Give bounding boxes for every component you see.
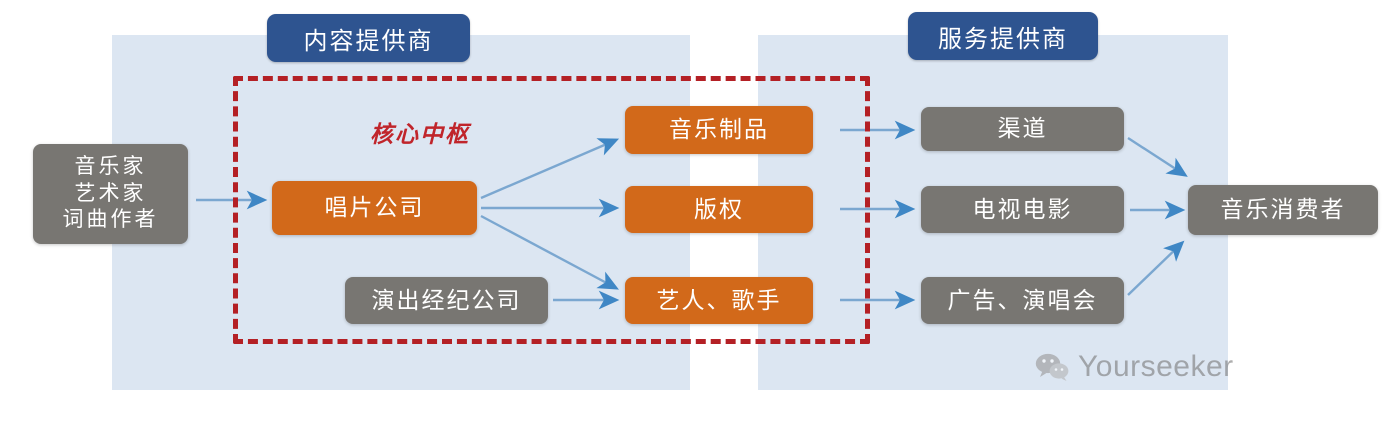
- header-service-provider: 服务提供商: [908, 12, 1098, 60]
- diagram-canvas: 内容提供商 服务提供商 核心中枢 音乐家 艺术家 词曲作者 唱片公司 演出经纪公…: [0, 0, 1397, 427]
- node-music-product-label: 音乐制品: [669, 115, 769, 144]
- node-record-company-label: 唱片公司: [325, 193, 425, 222]
- node-ad-concert[interactable]: 广告、演唱会: [921, 277, 1124, 324]
- node-creators[interactable]: 音乐家 艺术家 词曲作者: [33, 144, 188, 244]
- header-content-provider-label: 内容提供商: [304, 21, 434, 56]
- node-creators-line-2: 艺术家: [75, 181, 147, 208]
- node-performance-agency[interactable]: 演出经纪公司: [345, 277, 548, 324]
- node-performance-agency-label: 演出经纪公司: [372, 286, 522, 315]
- node-music-consumer-label: 音乐消费者: [1221, 195, 1346, 224]
- node-creators-line-3: 词曲作者: [63, 207, 159, 234]
- node-record-company[interactable]: 唱片公司: [272, 181, 477, 235]
- node-tv-film-label: 电视电影: [973, 195, 1073, 224]
- node-channel-label: 渠道: [998, 114, 1048, 143]
- node-tv-film[interactable]: 电视电影: [921, 186, 1124, 233]
- node-creators-line-1: 音乐家: [75, 154, 147, 181]
- node-ad-concert-label: 广告、演唱会: [948, 286, 1098, 315]
- node-channel[interactable]: 渠道: [921, 107, 1124, 151]
- node-music-consumer[interactable]: 音乐消费者: [1188, 185, 1378, 235]
- header-content-provider: 内容提供商: [267, 14, 470, 62]
- watermark-text: Yourseeker: [1078, 350, 1234, 384]
- watermark: Yourseeker: [1035, 350, 1234, 384]
- node-artists-singers-label: 艺人、歌手: [657, 286, 782, 315]
- header-service-provider-label: 服务提供商: [938, 19, 1068, 54]
- node-music-product[interactable]: 音乐制品: [625, 106, 813, 154]
- node-copyright-label: 版权: [694, 195, 744, 224]
- core-hub-label: 核心中枢: [330, 117, 510, 147]
- node-artists-singers[interactable]: 艺人、歌手: [625, 277, 813, 324]
- wechat-icon: [1035, 353, 1069, 381]
- node-copyright[interactable]: 版权: [625, 186, 813, 233]
